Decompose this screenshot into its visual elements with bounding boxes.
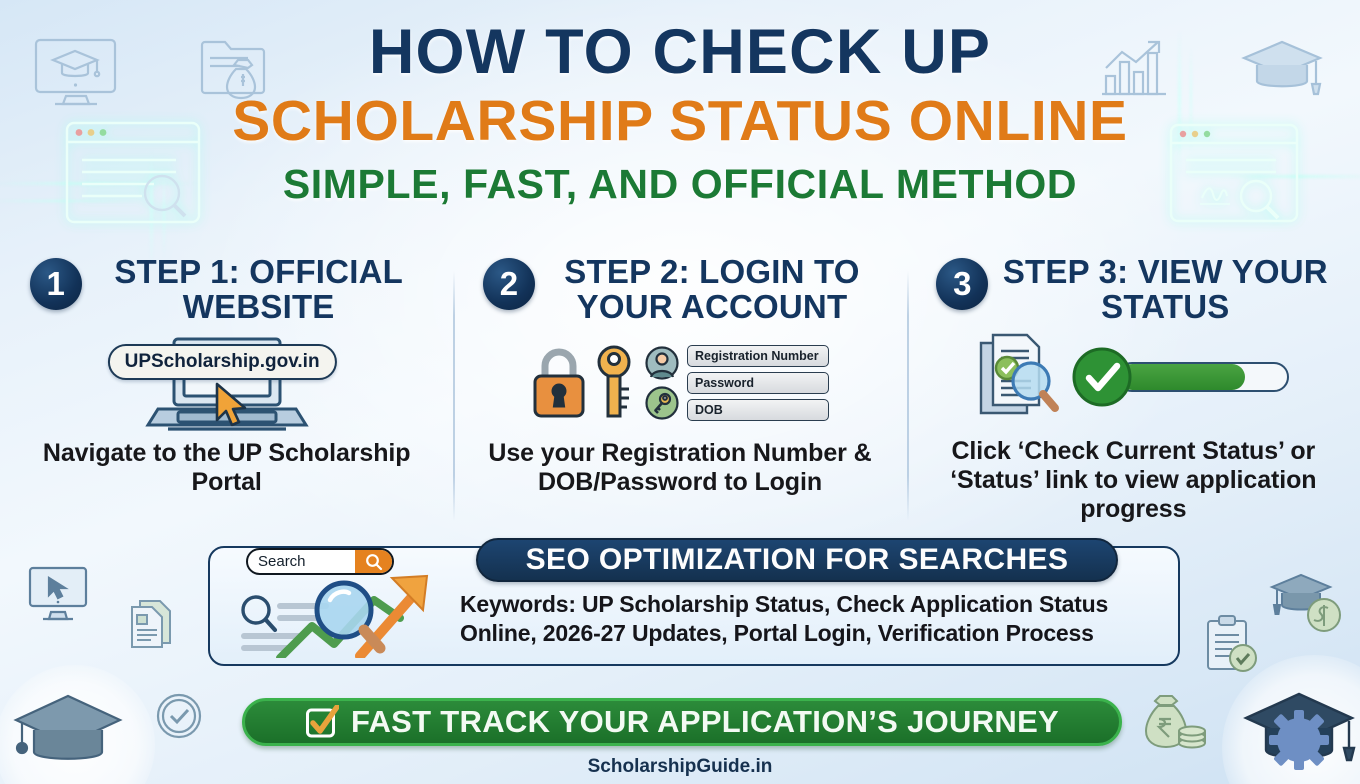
step-1-number-badge: 1 [30, 258, 82, 310]
step-3-header: 3 STEP 3: VIEW YOUR STATUS [921, 255, 1346, 325]
status-progress-bar [1117, 362, 1289, 392]
banner-label: FAST TRACK YOUR APPLICATION’S JOURNEY [351, 704, 1059, 740]
field-registration-number[interactable]: Registration Number [687, 345, 829, 367]
key-icon [595, 345, 633, 421]
documents-icon [127, 597, 177, 649]
step-3-number-badge: 3 [936, 258, 988, 310]
search-input[interactable]: Search [246, 548, 394, 575]
monitor-cursor-icon [27, 565, 89, 623]
search-placeholder: Search [248, 553, 355, 570]
step-1-title: STEP 1: OFFICIAL WEBSITE [94, 255, 424, 325]
seo-section: Search SEO OPTIMIZATION FOR SEARCHES Key… [208, 538, 1180, 666]
step-1-illustration: UPScholarship.gov.in [14, 331, 439, 435]
step-2-illustration: Registration Number Password DOB [467, 331, 892, 435]
step-3-title: STEP 3: VIEW YOUR STATUS [1000, 255, 1330, 325]
seo-pill-label: SEO OPTIMIZATION FOR SEARCHES [476, 538, 1118, 582]
clipboard-check-icon [1202, 613, 1260, 675]
field-dob[interactable]: DOB [687, 399, 829, 421]
seo-keywords-text: Keywords: UP Scholarship Status, Check A… [460, 590, 1170, 649]
step-2-description: Use your Registration Number & DOB/Passw… [467, 439, 892, 497]
step-card-1: 1 STEP 1: OFFICIAL WEBSITE UPScholarship… [0, 255, 453, 525]
step-3-description: Click ‘Check Current Status’ or ‘Status’… [921, 437, 1346, 524]
status-progress-fill [1119, 364, 1245, 390]
money-bag-rupee-icon [1142, 693, 1206, 755]
step-3-illustration [921, 325, 1346, 429]
status-check-icon [1071, 346, 1133, 408]
step-2-title: STEP 2: LOGIN TO YOUR ACCOUNT [547, 255, 877, 325]
steps-row: 1 STEP 1: OFFICIAL WEBSITE UPScholarship… [0, 255, 1360, 525]
check-circle-icon [155, 692, 203, 740]
step-1-header: 1 STEP 1: OFFICIAL WEBSITE [14, 255, 439, 325]
page-title-sub: SCHOLARSHIP STATUS ONLINE [0, 91, 1360, 153]
user-avatar-icon [645, 346, 679, 380]
step-card-3: 3 STEP 3: VIEW YOUR STATUS [907, 255, 1360, 525]
step-1-url-badge[interactable]: UPScholarship.gov.in [108, 344, 337, 380]
step-2-number-badge: 2 [483, 258, 535, 310]
login-fields: Registration Number Password DOB [687, 345, 829, 421]
page-title-main: HOW TO CHECK UP [0, 20, 1360, 85]
infographic-canvas: HOW TO CHECK UP SCHOLARSHIP STATUS ONLIN… [0, 0, 1360, 784]
footer-site-name: ScholarshipGuide.in [0, 756, 1360, 778]
document-verified-icon [977, 329, 1063, 425]
graduation-cap-coin-icon [1268, 567, 1346, 639]
fast-track-banner[interactable]: FAST TRACK YOUR APPLICATION’S JOURNEY [242, 698, 1122, 746]
field-password[interactable]: Password [687, 372, 829, 394]
key-circle-icon [645, 386, 679, 420]
step-1-description: Navigate to the UP Scholarship Portal [14, 439, 439, 497]
checkbox-checked-icon [305, 705, 339, 739]
step-2-header: 2 STEP 2: LOGIN TO YOUR ACCOUNT [467, 255, 892, 325]
step-card-2: 2 STEP 2: LOGIN TO YOUR ACCOUNT [453, 255, 906, 525]
padlock-icon [531, 346, 587, 420]
search-icon[interactable] [355, 550, 392, 573]
header: HOW TO CHECK UP SCHOLARSHIP STATUS ONLIN… [0, 20, 1360, 208]
page-title-tagline: SIMPLE, FAST, AND OFFICIAL METHOD [0, 162, 1360, 207]
